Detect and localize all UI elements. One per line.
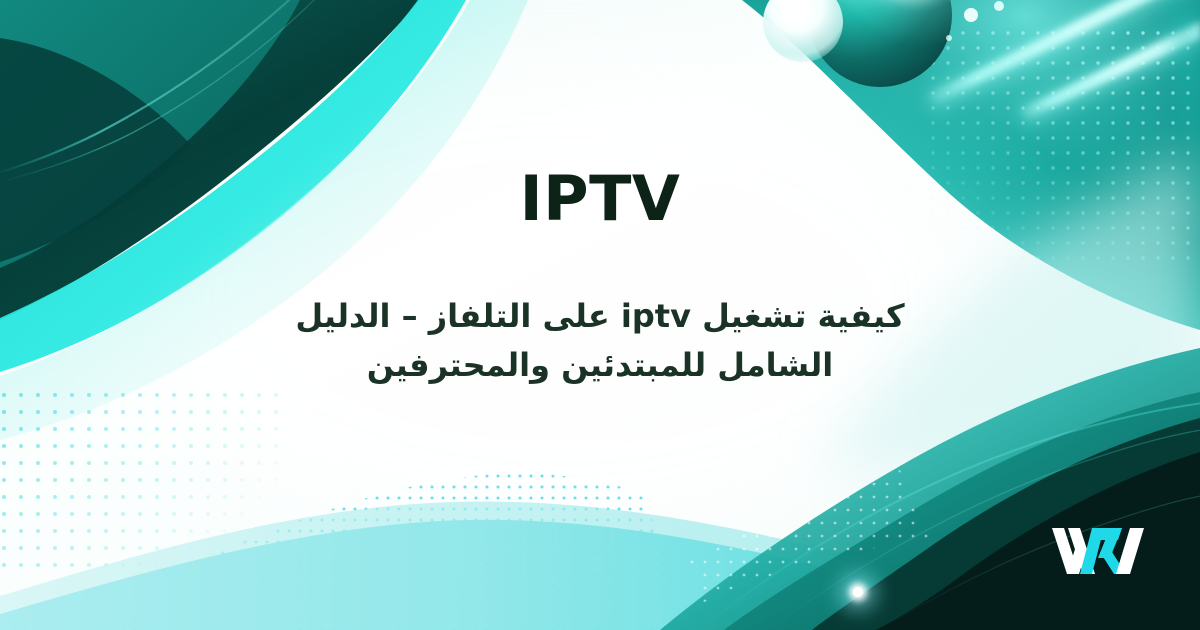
social-share-card: IPTV كيفية تشغيل iptv على التلفاز – الدل… — [0, 0, 1200, 630]
bg-dot-grid-top-right — [930, 30, 1200, 260]
logo-letter-i — [1116, 528, 1144, 574]
bg-glow-dot — [838, 572, 878, 612]
background-artwork — [0, 0, 1200, 630]
bg-speck-dots-bottom — [660, 450, 960, 630]
brand-logo-wri[interactable]: WRI — [1048, 518, 1154, 584]
